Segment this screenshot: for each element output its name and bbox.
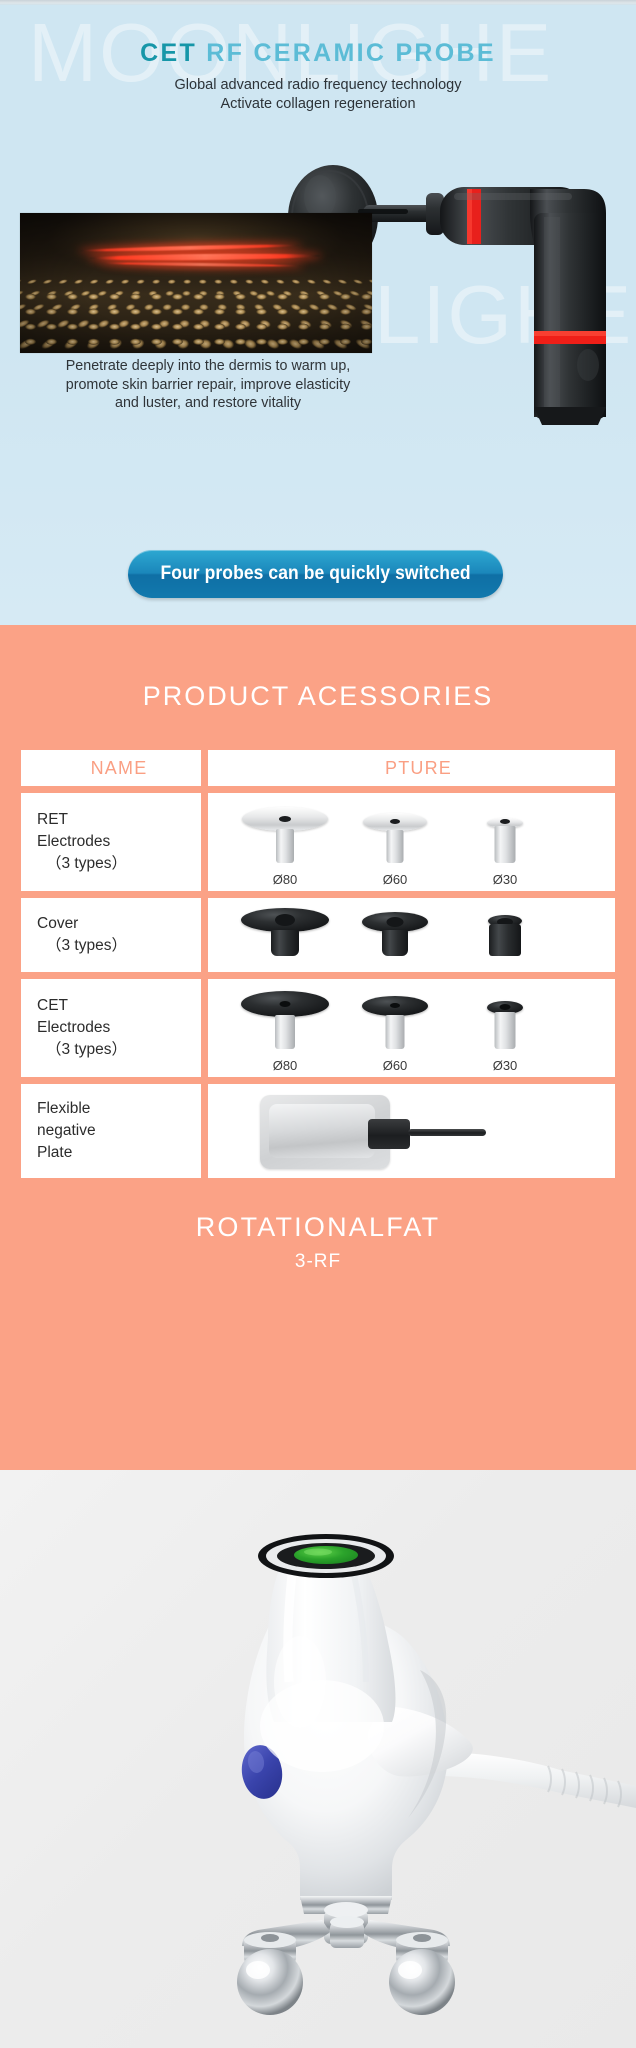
rotational-fat-subtitle: 3-RF <box>0 1251 636 1273</box>
cet-probe-large-hole <box>280 1001 291 1007</box>
row-picture-flexible-plate <box>208 1084 615 1178</box>
cet-probe-large-stem <box>275 1015 295 1049</box>
hero-caption-line2: promote skin barrier repair, improve ela… <box>0 376 416 395</box>
row-name-line: Electrodes <box>37 831 201 853</box>
page-title-part1: CET <box>140 39 197 67</box>
four-probes-cta-button[interactable]: Four probes can be quickly switched <box>128 550 503 598</box>
row-name-cet-electrodes: CET Electrodes （3 types） <box>21 979 201 1077</box>
cet-probe-item: Ø30 <box>450 979 560 1077</box>
cet-probe-item: Ø80 <box>230 979 340 1077</box>
hero-subtitle-line2: Activate collagen regeneration <box>0 95 636 114</box>
probe-size-label: Ø60 <box>340 1058 450 1073</box>
hero-subtitle-line1: Global advanced radio frequency technolo… <box>0 76 636 95</box>
cet-probe-item: Ø60 <box>340 979 450 1077</box>
ret-probe-medium-hole <box>390 819 400 824</box>
cover-medium-hole <box>387 917 404 927</box>
plate-metal-surface <box>269 1104 375 1158</box>
cet-probe-small-hole <box>500 1004 511 1010</box>
white-handpiece-illustration <box>0 1470 636 2048</box>
plate-cable <box>408 1129 486 1136</box>
table-row: Flexible negative Plate <box>21 1084 615 1178</box>
hero-section: MOONLIGHE MOONLIGHE CET RF CERAMIC PROBE… <box>0 5 636 625</box>
row-name-line: CET <box>37 995 201 1017</box>
cover-item <box>450 898 560 972</box>
probe-item: Ø30 <box>450 793 560 891</box>
cover-large-body <box>271 930 299 956</box>
probe-size-label: Ø80 <box>230 872 340 887</box>
photo-vignette <box>20 213 372 353</box>
table-row: CET Electrodes （3 types） Ø80 <box>21 979 615 1077</box>
ret-probe-large-stem <box>276 829 294 863</box>
column-header-picture: PTURE <box>208 750 615 786</box>
row-name-line: Flexible <box>37 1098 201 1120</box>
probe-size-label: Ø30 <box>450 1058 560 1073</box>
cover-small-body <box>489 924 521 956</box>
cover-medium-body <box>382 930 408 956</box>
page-title: CET RF CERAMIC PROBE <box>0 5 636 68</box>
row-picture-cet-electrodes: Ø80 Ø60 Ø30 <box>208 979 615 1077</box>
row-name-line: RET <box>37 809 201 831</box>
cet-probe-medium-hole <box>390 1003 400 1008</box>
row-name-line: （3 types） <box>37 853 201 875</box>
hero-caption-line3: and luster, and restore vitality <box>0 394 416 413</box>
row-name-line: negative <box>37 1120 201 1142</box>
row-name-flexible-plate: Flexible negative Plate <box>21 1084 201 1178</box>
column-header-name: NAME <box>21 750 201 786</box>
ret-probe-medium-stem <box>387 830 404 863</box>
probe-item: Ø60 <box>340 793 450 891</box>
row-name-ret-electrodes: RET Electrodes （3 types） <box>21 793 201 891</box>
row-name-line: （3 types） <box>37 1039 201 1061</box>
probe-size-label: Ø60 <box>340 872 450 887</box>
probe-size-label: Ø80 <box>230 1058 340 1073</box>
hero-caption-line1: Penetrate deeply into the dermis to warm… <box>0 357 416 376</box>
cet-probe-small-stem <box>495 1012 516 1049</box>
row-name-line: Electrodes <box>37 1017 201 1039</box>
row-name-line: Plate <box>37 1142 201 1164</box>
row-name-line: Cover <box>37 913 201 935</box>
table-header-row: NAME PTURE <box>21 750 615 786</box>
cover-large-hole <box>275 914 295 926</box>
cover-item <box>340 898 450 972</box>
accessories-section: PRODUCT ACESSORIES NAME PTURE RET Electr… <box>0 625 636 1470</box>
page-title-part2: RF CERAMIC PROBE <box>206 39 496 67</box>
hero-subtitle: Global advanced radio frequency technolo… <box>0 76 636 114</box>
rotational-fat-title: ROTATIONALFAT <box>0 1212 636 1243</box>
accessories-table: NAME PTURE RET Electrodes （3 types） Ø80 <box>21 750 615 1178</box>
device-showcase-section <box>0 1470 636 2048</box>
plate-connector <box>368 1119 410 1149</box>
row-picture-cover <box>208 898 615 972</box>
cta-button-label: Four probes can be quickly switched <box>160 563 470 585</box>
row-name-line: （3 types） <box>37 935 201 957</box>
probe-item: Ø80 <box>230 793 340 891</box>
row-name-cover: Cover （3 types） <box>21 898 201 972</box>
table-row: RET Electrodes （3 types） Ø80 <box>21 793 615 891</box>
flexible-plate-illustration <box>260 1093 490 1171</box>
hero-caption: Penetrate deeply into the dermis to warm… <box>0 357 416 413</box>
probe-size-label: Ø30 <box>450 872 560 887</box>
table-row: Cover （3 types） <box>21 898 615 972</box>
cover-item <box>230 898 340 972</box>
ret-probe-small-hole <box>500 819 510 824</box>
treatment-photo <box>20 213 372 353</box>
row-picture-ret-electrodes: Ø80 Ø60 Ø30 <box>208 793 615 891</box>
accessories-title: PRODUCT ACESSORIES <box>0 625 636 712</box>
ret-probe-large-hole <box>279 816 291 822</box>
cet-probe-medium-stem <box>386 1015 405 1049</box>
ret-probe-small-stem <box>495 826 516 863</box>
